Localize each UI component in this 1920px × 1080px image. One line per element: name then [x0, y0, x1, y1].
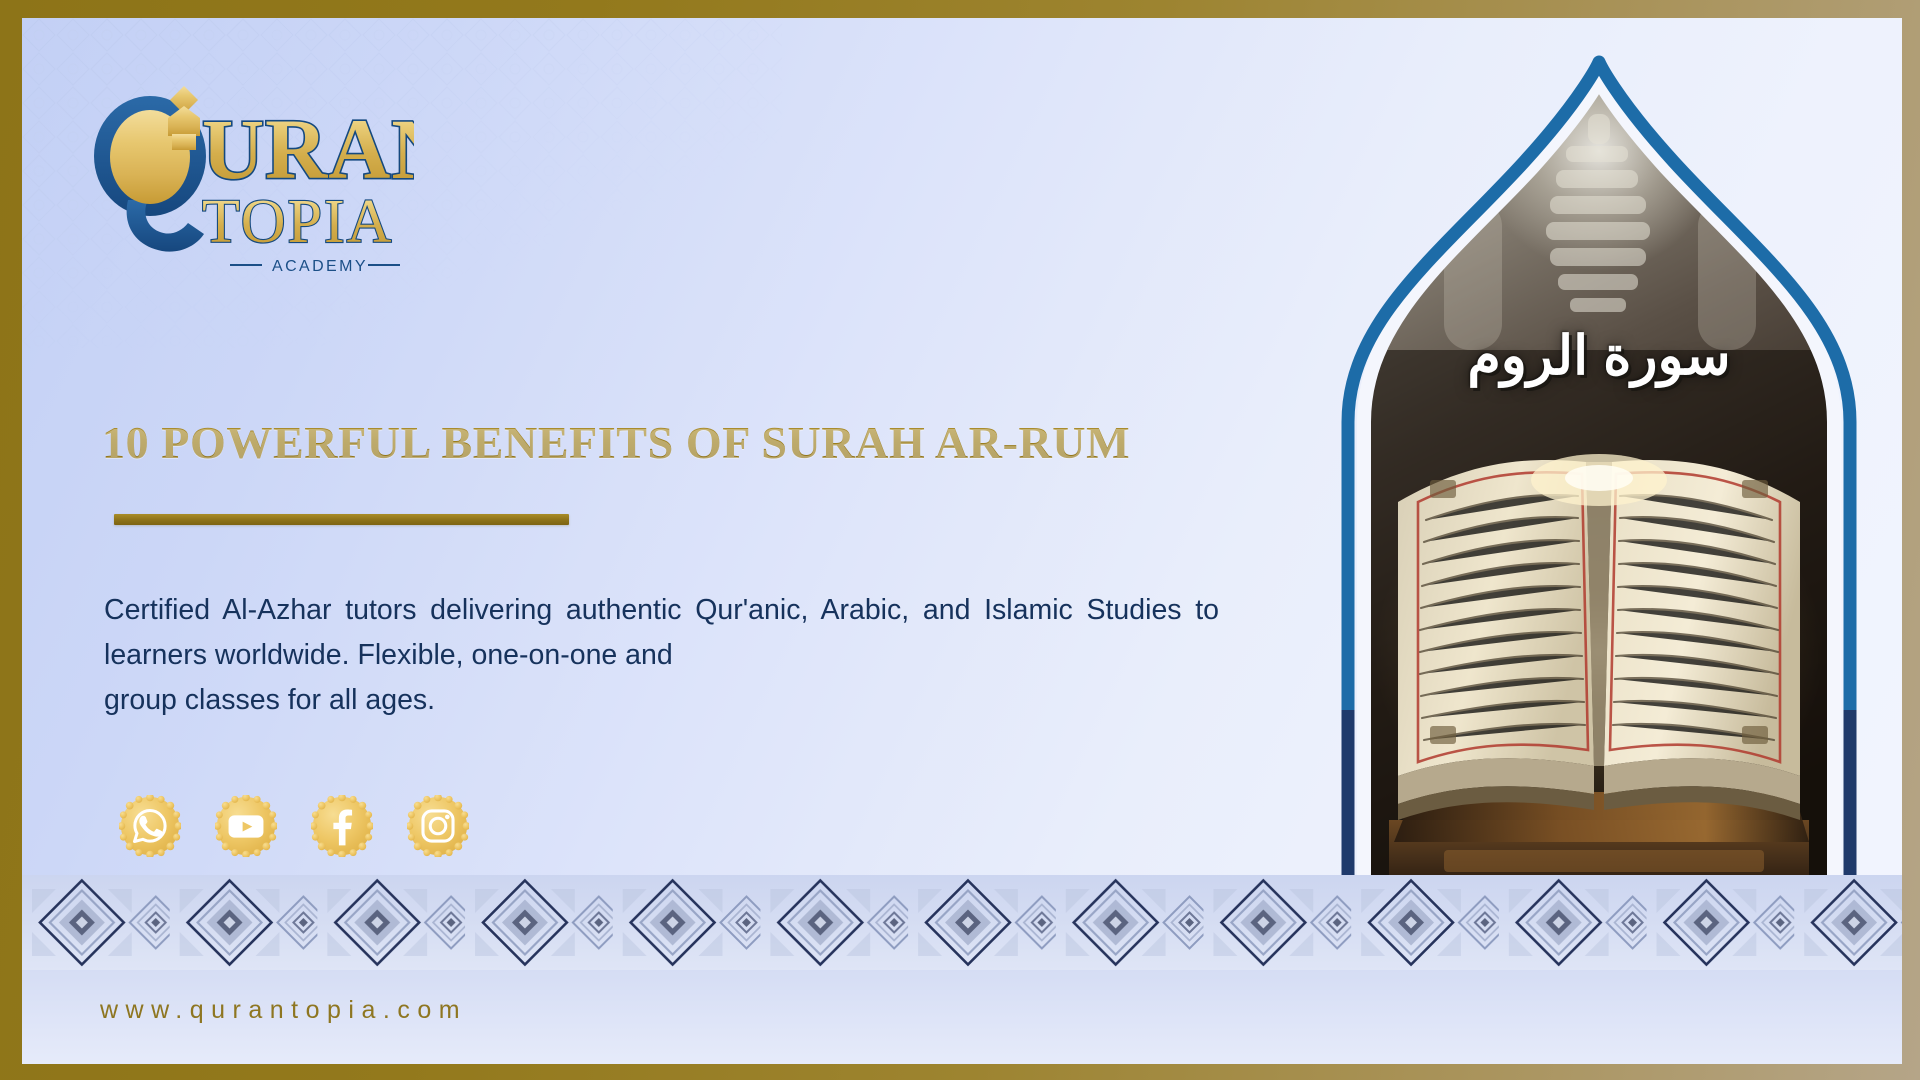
whatsapp-icon[interactable] [119, 795, 181, 857]
arch-photo [1334, 50, 1864, 930]
instagram-icon[interactable] [407, 795, 469, 857]
body-line-1: Certified Al-Azhar tutors delivering aut… [104, 594, 970, 626]
mihrab-arch-panel: سورة الروم [1294, 50, 1902, 930]
logo-word-top: URAN [202, 101, 414, 197]
body-line-3: group classes for all ages. [104, 678, 1219, 723]
logo-tagline: ACADEMY [272, 258, 368, 275]
poster-frame: URAN TOPIA ACADEMY 10 POWERFUL BENEFITS … [0, 0, 1920, 1080]
logo-word-bottom: TOPIA [202, 188, 393, 256]
page-title: 10 POWERFUL BENEFITS OF SURAH AR-RUM [102, 416, 1130, 469]
website-url[interactable]: www.qurantopia.com [100, 996, 467, 1025]
youtube-icon[interactable] [215, 795, 277, 857]
social-links [119, 795, 469, 857]
body-paragraph: Certified Al-Azhar tutors delivering aut… [104, 588, 1219, 723]
decorative-pattern-band [22, 875, 1902, 970]
footer-bar: www.qurantopia.com [22, 970, 1902, 1064]
title-underline [114, 514, 569, 525]
brand-logo[interactable]: URAN TOPIA ACADEMY [84, 60, 414, 275]
poster-canvas: URAN TOPIA ACADEMY 10 POWERFUL BENEFITS … [22, 18, 1902, 1064]
facebook-icon[interactable] [311, 795, 373, 857]
